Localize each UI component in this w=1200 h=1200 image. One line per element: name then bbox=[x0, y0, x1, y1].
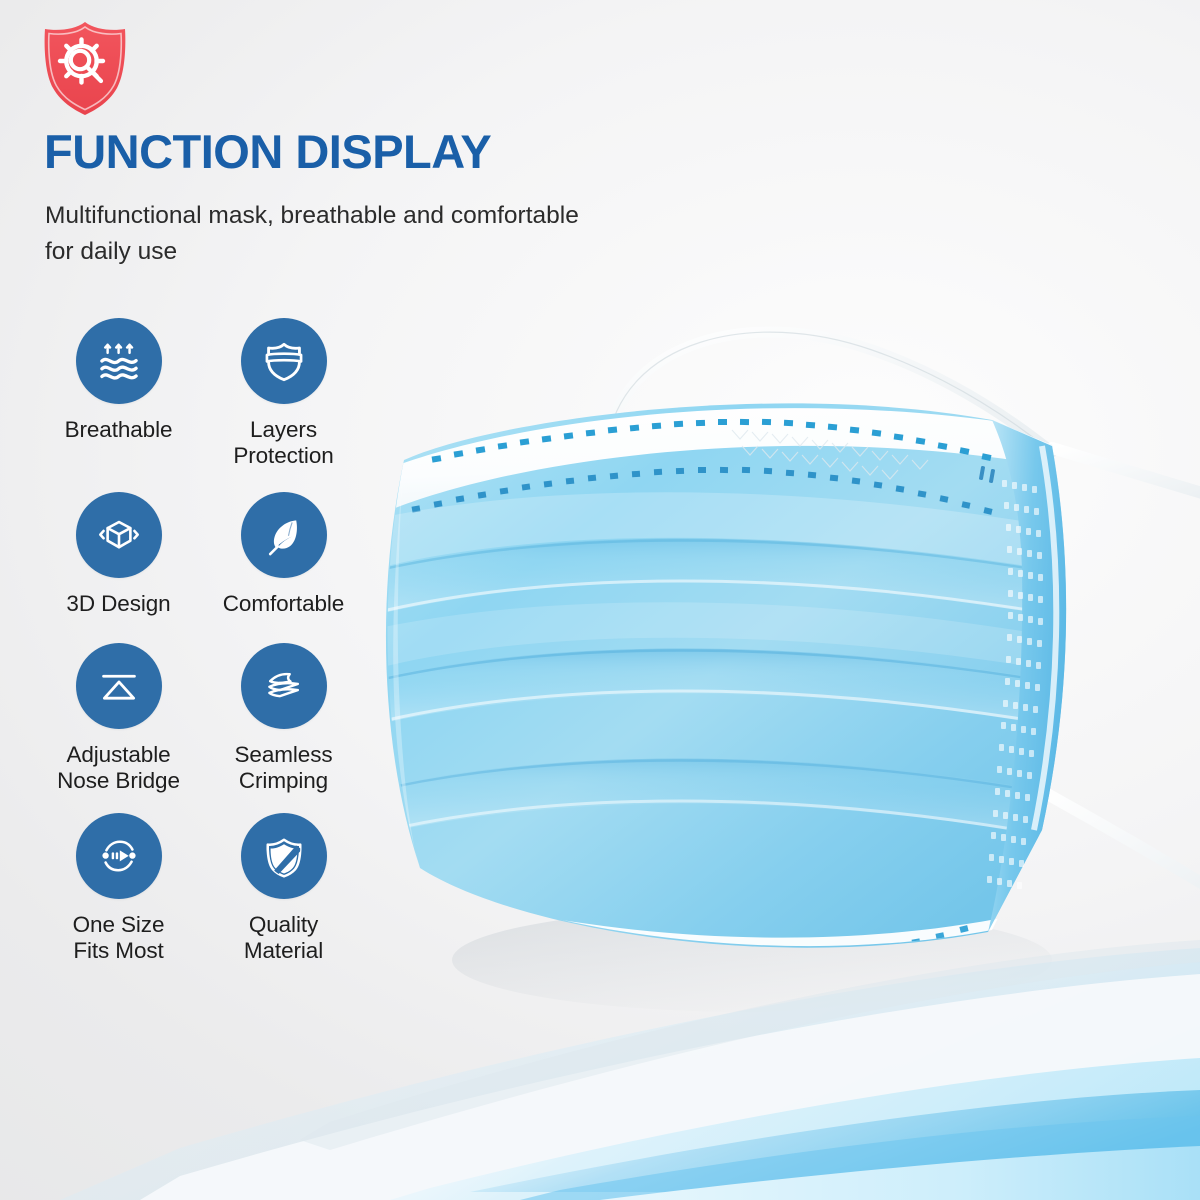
feature-grid: Breathable LayersProtection bbox=[36, 318, 366, 964]
breathable-airflow-icon bbox=[76, 318, 162, 404]
feature-item-layers-protection[interactable]: LayersProtection bbox=[201, 318, 366, 470]
feature-row: 3D Design Comfortable bbox=[36, 492, 366, 617]
resize-arrows-icon bbox=[76, 813, 162, 899]
feature-row: Breathable LayersProtection bbox=[36, 318, 366, 470]
nose-bridge-triangle-icon bbox=[76, 643, 162, 729]
page-title: FUNCTION DISPLAY bbox=[44, 128, 491, 175]
bottom-wave-decoration bbox=[0, 940, 1200, 1200]
infographic-canvas: FUNCTION DISPLAY Multifunctional mask, b… bbox=[0, 0, 1200, 1200]
feature-item-seamless-crimping[interactable]: SeamlessCrimping bbox=[201, 643, 366, 795]
feature-row: AdjustableNose Bridge SeamlessCrimping bbox=[36, 643, 366, 795]
feature-item-3d-design[interactable]: 3D Design bbox=[36, 492, 201, 617]
feather-icon bbox=[241, 492, 327, 578]
feature-label: LayersProtection bbox=[233, 417, 333, 470]
page-subtitle: Multifunctional mask, breathable and com… bbox=[45, 198, 585, 269]
feature-label: SeamlessCrimping bbox=[235, 742, 333, 795]
feature-item-adjustable-nose-bridge[interactable]: AdjustableNose Bridge bbox=[36, 643, 201, 795]
feature-item-breathable[interactable]: Breathable bbox=[36, 318, 201, 470]
layers-shield-icon bbox=[241, 318, 327, 404]
feature-label: Comfortable bbox=[223, 591, 344, 617]
shield-virus-magnifier-icon bbox=[33, 16, 137, 120]
quality-shield-icon bbox=[241, 813, 327, 899]
stacked-sheets-icon bbox=[241, 643, 327, 729]
feature-label: Breathable bbox=[65, 417, 173, 443]
feature-label: 3D Design bbox=[66, 591, 170, 617]
cube-3d-icon bbox=[76, 492, 162, 578]
feature-item-comfortable[interactable]: Comfortable bbox=[201, 492, 366, 617]
feature-label: AdjustableNose Bridge bbox=[57, 742, 180, 795]
